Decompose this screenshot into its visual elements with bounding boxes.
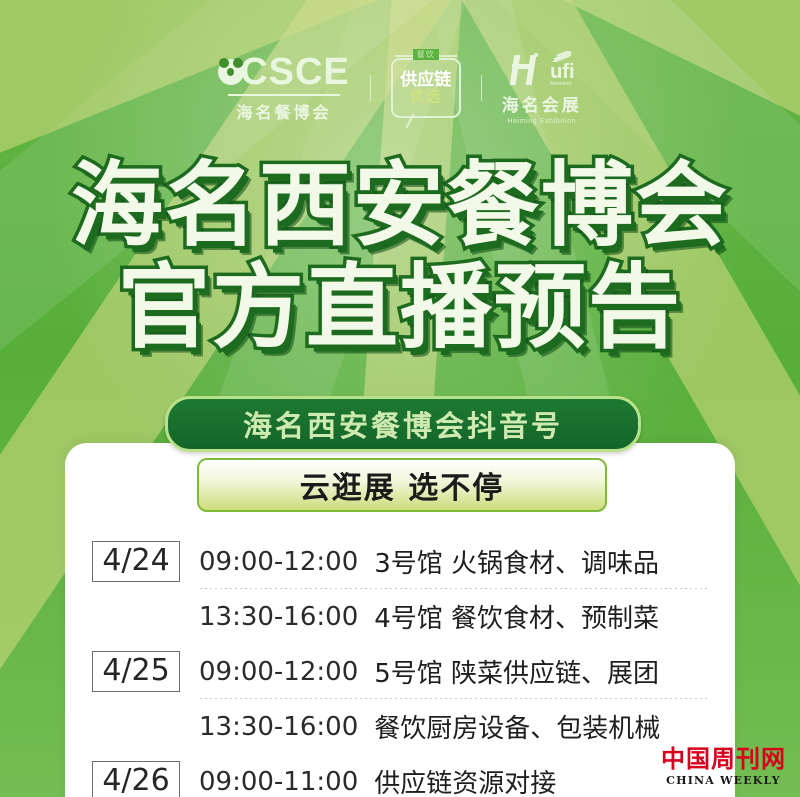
haiming-english: Haiming Exhibition — [507, 118, 576, 125]
supply-chain-line1: 供应链 — [400, 71, 451, 89]
schedule-time: 13:30-16:00 — [199, 712, 358, 742]
logo-separator-2 — [481, 75, 482, 101]
subtitle-pill: 云逛展 选不停 — [197, 458, 607, 512]
schedule-desc: 供应链资源对接 — [374, 763, 556, 797]
schedule-content-1: 13:30-16:00 4号馆 餐饮食材、预制菜 — [182, 598, 710, 635]
date-badge: 4/24 — [92, 541, 179, 582]
ufi-text: ufi — [550, 63, 574, 82]
table-row: 4/24 09:00-12:00 3号馆 火锅食材、调味品 — [90, 534, 710, 589]
date-badge: 4/26 — [92, 761, 179, 797]
supply-chain-tag: 餐饮 — [413, 49, 439, 60]
logo-haiming: ufi Member 海名会展 Haiming Exhibition — [502, 51, 582, 126]
logo-separator-1 — [370, 75, 371, 101]
watermark-chinese: 中国周刊网 — [661, 747, 786, 771]
schedule-list: 4/24 09:00-12:00 3号馆 火锅食材、调味品 13:30-16:0… — [90, 534, 710, 797]
schedule-content-4: 09:00-11:00 供应链资源对接 — [182, 763, 710, 797]
schedule-date-4: 4/26 — [90, 761, 182, 797]
douyin-account-pill-text: 海名西安餐博会抖音号 — [243, 403, 563, 445]
schedule-desc: 5号馆 陕菜供应链、展团 — [374, 653, 659, 690]
speech-bubble-tail-icon — [405, 113, 414, 128]
haiming-chinese: 海名会展 — [502, 91, 582, 116]
haiming-top: ufi Member — [509, 51, 574, 88]
schedule-time: 09:00-12:00 — [199, 547, 358, 577]
table-row: 4/25 09:00-12:00 5号馆 陕菜供应链、展团 — [90, 644, 710, 699]
table-row: 13:30-16:00 4号馆 餐饮食材、预制菜 — [90, 589, 710, 644]
schedule-time: 09:00-12:00 — [199, 657, 358, 687]
douyin-account-pill: 海名西安餐博会抖音号 — [165, 396, 641, 452]
schedule-date-2: 4/25 — [90, 651, 182, 692]
supply-chain-box: 供应链 优选 — [391, 58, 461, 118]
page-title-line1: 海名西安餐博会 — [0, 160, 800, 252]
schedule-time: 13:30-16:00 — [199, 602, 358, 632]
date-badge: 4/25 — [92, 651, 179, 692]
watermark-english: CHINA WEEKLY — [661, 774, 786, 787]
haiming-h-icon — [509, 53, 543, 87]
logo-supply-chain: 餐饮 供应链 优选 — [391, 58, 461, 118]
title-line1-text: 海名西安餐博会 — [0, 160, 800, 252]
schedule-content-2: 09:00-12:00 5号馆 陕菜供应链、展团 — [182, 653, 710, 690]
schedule-time: 09:00-11:00 — [199, 767, 358, 797]
csce-rule — [228, 94, 340, 96]
supply-chain-line2: 优选 — [410, 89, 442, 106]
logo-csce: CSCE 海名餐博会 — [218, 53, 350, 123]
logo-strip: CSCE 海名餐博会 餐饮 供应链 优选 ufi — [0, 48, 800, 128]
csce-wordmark-text: CSCE — [240, 53, 350, 91]
table-row: 4/26 09:00-11:00 供应链资源对接 — [90, 754, 710, 797]
csce-chinese: 海名餐博会 — [236, 99, 331, 123]
schedule-content-3: 13:30-16:00 餐饮厨房设备、包装机械 — [182, 708, 710, 745]
ufi-wave-icon — [550, 51, 574, 62]
ufi-member-text: Member — [550, 82, 572, 88]
table-row: 13:30-16:00 餐饮厨房设备、包装机械 — [90, 699, 710, 754]
poster-root: CSCE 海名餐博会 餐饮 供应链 优选 ufi — [0, 0, 800, 797]
title-line2-text: 官方直播预告 — [0, 262, 800, 354]
schedule-desc: 3号馆 火锅食材、调味品 — [374, 543, 659, 580]
page-title-line2: 官方直播预告 — [0, 262, 800, 354]
schedule-desc: 4号馆 餐饮食材、预制菜 — [374, 598, 659, 635]
ufi-logo: ufi Member — [550, 51, 574, 88]
schedule-desc: 餐饮厨房设备、包装机械 — [374, 708, 660, 745]
watermark: 中国周刊网 CHINA WEEKLY — [661, 747, 786, 787]
schedule-date-0: 4/24 — [90, 541, 182, 582]
subtitle-pill-text: 云逛展 选不停 — [300, 463, 504, 507]
csce-wordmark: CSCE — [218, 53, 350, 91]
schedule-content-0: 09:00-12:00 3号馆 火锅食材、调味品 — [182, 543, 710, 580]
